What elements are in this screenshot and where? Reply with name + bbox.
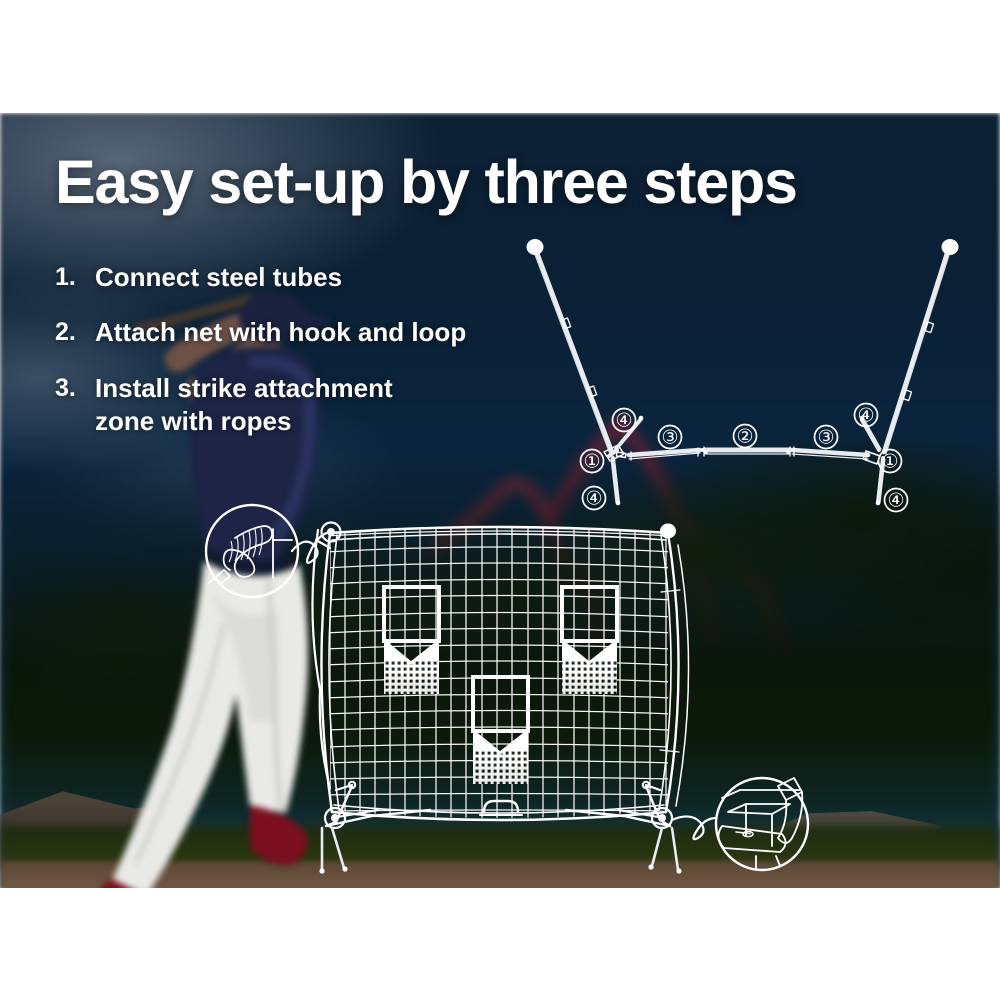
letterbox-bar-bottom bbox=[0, 888, 1000, 1000]
step-number: 1. bbox=[55, 261, 95, 293]
step-text: Install strike attachment zone with rope… bbox=[95, 372, 425, 439]
step-item-3: 3. Install strike attachment zone with r… bbox=[55, 372, 575, 439]
product-feature-image: ① ④ ④ ③ ② ③ ① ④ bbox=[0, 0, 1000, 1000]
setup-steps-list: 1. Connect steel tubes 2. Attach net wit… bbox=[55, 261, 575, 460]
page-title: Easy set-up by three steps bbox=[55, 152, 797, 213]
step-number: 2. bbox=[55, 316, 95, 348]
background-photo bbox=[0, 113, 1000, 888]
step-item-2: 2. Attach net with hook and loop bbox=[55, 316, 575, 349]
letterbox-bar-top bbox=[0, 0, 1000, 113]
step-number: 3. bbox=[55, 372, 95, 404]
step-item-1: 1. Connect steel tubes bbox=[55, 261, 575, 294]
step-text: Connect steel tubes bbox=[95, 261, 342, 294]
step-text: Attach net with hook and loop bbox=[95, 316, 466, 349]
